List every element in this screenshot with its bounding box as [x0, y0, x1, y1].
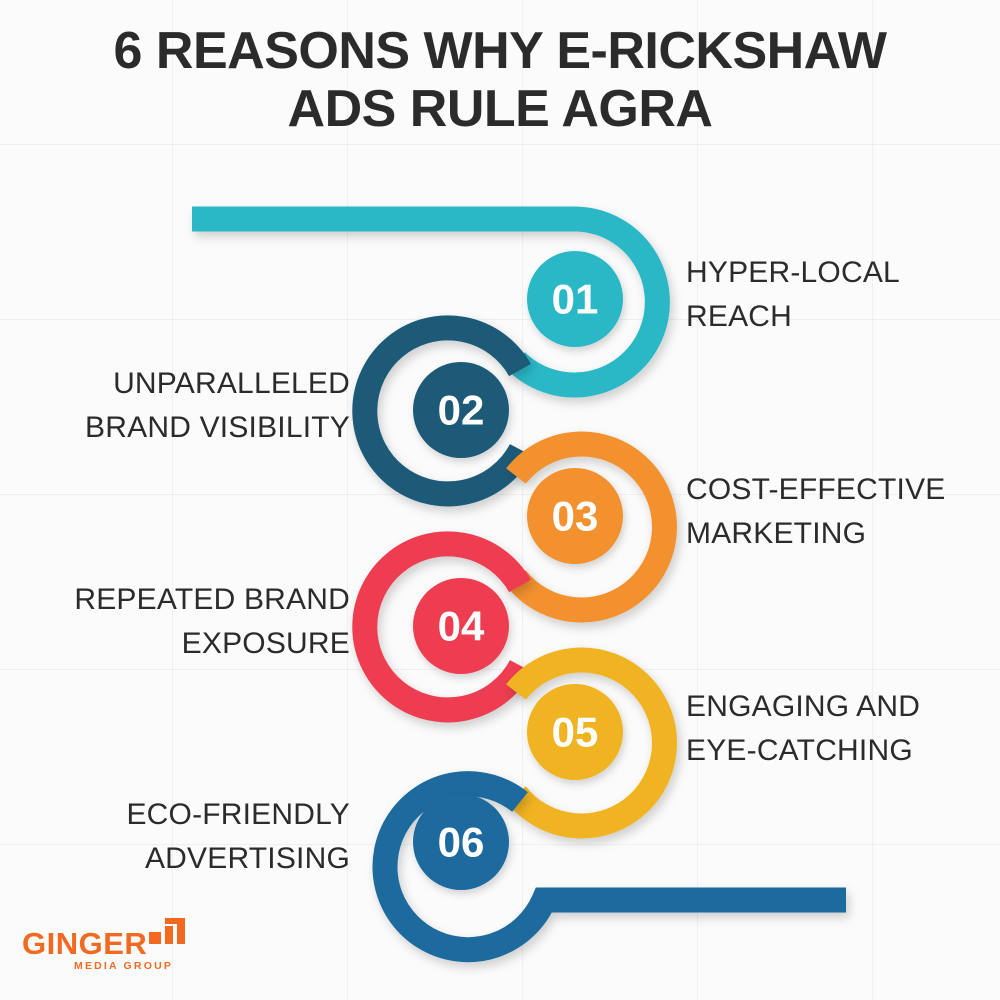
step-06-number: 06	[438, 819, 485, 866]
stepped-bars-icon	[149, 918, 187, 952]
step-03-number: 03	[552, 493, 599, 540]
step-06-label-line1: ECO-FRIENDLY	[0, 793, 350, 837]
step-04-number: 04	[438, 603, 485, 650]
step-03-label-line1: COST-EFFECTIVE	[686, 468, 986, 512]
brand-logo[interactable]: GINGER MEDIA GROUP	[22, 918, 212, 984]
step-node-01[interactable]: 01	[192, 219, 657, 385]
step-05-label: ENGAGING AND EYE-CATCHING	[686, 685, 986, 772]
step-06-label-line2: ADVERTISING	[0, 837, 350, 881]
step-02-label-line1: UNPARALLELED	[0, 362, 350, 406]
step-02-label-line2: BRAND VISIBILITY	[0, 406, 350, 450]
step-03-label: COST-EFFECTIVE MARKETING	[686, 468, 986, 555]
step-node-05[interactable]: 05	[516, 660, 664, 826]
step-06-label: ECO-FRIENDLY ADVERTISING	[0, 793, 350, 880]
step-04-label-line1: REPEATED BRAND	[0, 578, 350, 622]
step-02-label: UNPARALLELED BRAND VISIBILITY	[0, 362, 350, 449]
step-node-03[interactable]: 03	[516, 444, 664, 610]
step-05-label-line2: EYE-CATCHING	[686, 729, 986, 773]
step-04-label: REPEATED BRAND EXPOSURE	[0, 578, 350, 665]
brand-logo-name: GINGER	[22, 926, 147, 962]
step-02-number: 02	[438, 387, 485, 434]
step-01-label-line1: HYPER-LOCAL	[686, 251, 986, 295]
step-03-label-line2: MARKETING	[686, 512, 986, 556]
step-node-04[interactable]: 04	[365, 544, 521, 710]
step-05-number: 05	[552, 709, 599, 756]
step-01-number: 01	[552, 276, 599, 323]
step-05-label-line1: ENGAGING AND	[686, 685, 986, 729]
step-04-label-line2: EXPOSURE	[0, 622, 350, 666]
step-01-label: HYPER-LOCAL REACH	[686, 251, 986, 338]
step-node-02[interactable]: 02	[365, 328, 521, 494]
step-01-label-line2: REACH	[686, 295, 986, 339]
brand-logo-tagline: MEDIA GROUP	[74, 960, 173, 972]
